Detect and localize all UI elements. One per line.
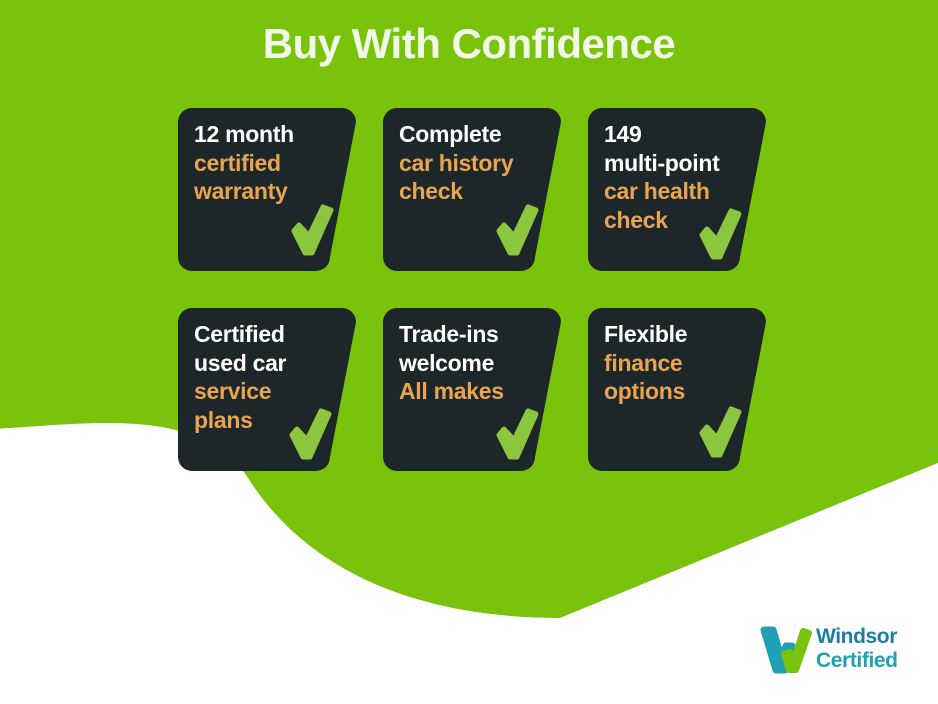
feature-card-6[interactable]: Flexible finance options (588, 308, 766, 471)
feature-card-1[interactable]: 12 month certified warranty (178, 108, 356, 271)
card-line: welcome (399, 349, 547, 378)
logo-wordmark: Windsor Certified (816, 625, 928, 673)
card-text: Complete car history check (399, 120, 547, 206)
check-tick-icon (698, 406, 744, 458)
card-line: finance (604, 349, 752, 378)
card-line: 149 (604, 120, 752, 149)
feature-card-5[interactable]: Trade-ins welcome All makes (383, 308, 561, 471)
card-line: service (194, 377, 342, 406)
card-line: certified (194, 149, 342, 178)
card-line: check (399, 177, 547, 206)
card-line: 12 month (194, 120, 342, 149)
card-text: Trade-ins welcome All makes (399, 320, 547, 406)
page-title: Buy With Confidence (0, 18, 938, 70)
feature-card-2[interactable]: Complete car history check (383, 108, 561, 271)
check-tick-icon (288, 408, 334, 460)
card-text: Flexible finance options (604, 320, 752, 406)
card-line: car history (399, 149, 547, 178)
check-tick-icon (495, 204, 541, 256)
card-line: car health (604, 177, 752, 206)
windsor-w-mark-icon (760, 626, 812, 674)
feature-card-4[interactable]: Certified used car service plans (178, 308, 356, 471)
logo-line-2: Certified (816, 649, 928, 673)
card-line: warranty (194, 177, 342, 206)
poster-canvas: Buy With Confidence 12 month certified w… (0, 0, 938, 704)
card-line: Complete (399, 120, 547, 149)
card-line: Trade-ins (399, 320, 547, 349)
feature-card-3[interactable]: 149 multi-point car health check (588, 108, 766, 271)
check-tick-icon (290, 204, 336, 256)
card-line: Flexible (604, 320, 752, 349)
check-tick-icon (698, 208, 744, 260)
check-tick-icon (495, 408, 541, 460)
card-line: Certified (194, 320, 342, 349)
card-line: All makes (399, 377, 547, 406)
card-line: used car (194, 349, 342, 378)
card-text: 12 month certified warranty (194, 120, 342, 206)
card-line: multi-point (604, 149, 752, 178)
logo-line-1: Windsor (816, 625, 928, 649)
brand-logo: Windsor Certified (758, 620, 928, 682)
card-line: options (604, 377, 752, 406)
